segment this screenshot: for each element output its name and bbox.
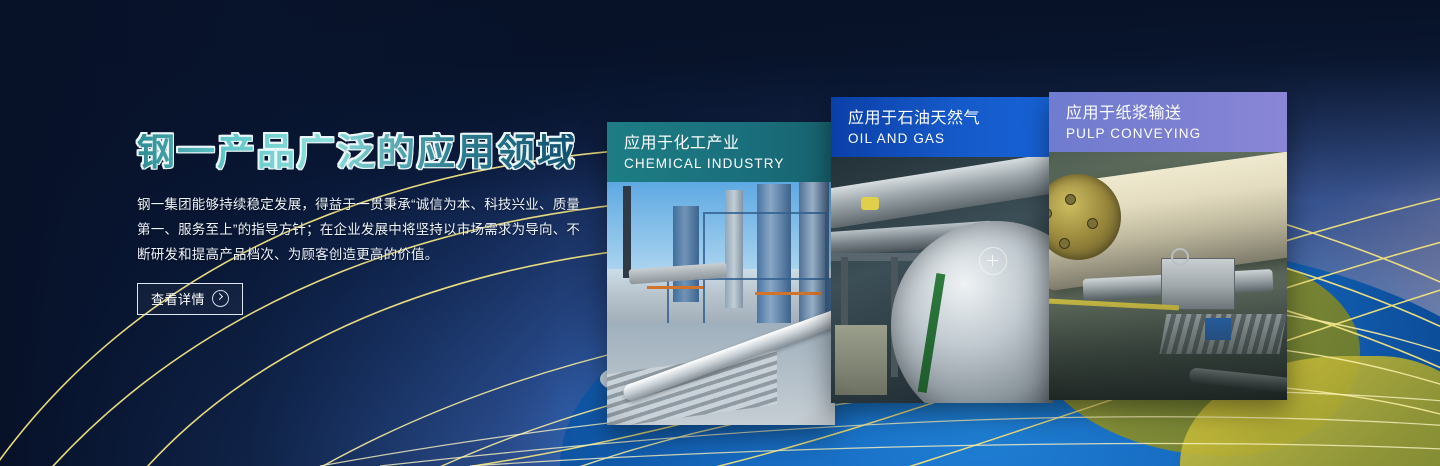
card-header: 应用于石油天然气 OIL AND GAS: [831, 97, 1053, 157]
view-details-button[interactable]: 查看详情: [137, 283, 243, 315]
card-title-en: OIL AND GAS: [848, 130, 1053, 148]
card-title-en: PULP CONVEYING: [1066, 125, 1287, 143]
card-title-cn: 应用于纸浆输送: [1066, 103, 1287, 125]
view-details-label: 查看详情: [151, 289, 205, 308]
application-card-pulp-conveying[interactable]: 应用于纸浆输送 PULP CONVEYING: [1049, 92, 1287, 400]
hero-banner: 钢一产品广泛的应用领域 钢一集团能够持续稳定发展，得益于一贯秉承“诚信为本、科技…: [0, 0, 1440, 466]
card-header: 应用于纸浆输送 PULP CONVEYING: [1049, 92, 1287, 152]
photo-vignette: [1049, 152, 1287, 400]
page-title: 钢一产品广泛的应用领域: [137, 134, 587, 172]
card-title-cn: 应用于石油天然气: [848, 108, 1053, 130]
hero-paragraph: 钢一集团能够持续稳定发展，得益于一贯秉承“诚信为本、科技兴业、质量第一、服务至上…: [137, 192, 581, 267]
hero-copy-block: 钢一产品广泛的应用领域 钢一集团能够持续稳定发展，得益于一贯秉承“诚信为本、科技…: [137, 134, 587, 315]
chemical-plant-photo: [607, 182, 835, 425]
photo-vignette: [831, 157, 1053, 403]
card-header: 应用于化工产业 CHEMICAL INDUSTRY: [607, 122, 835, 182]
pulp-roller-photo: [1049, 152, 1287, 400]
oil-and-gas-plant-photo: [831, 157, 1053, 403]
photo-vignette: [607, 182, 835, 425]
application-card-oil-and-gas[interactable]: 应用于石油天然气 OIL AND GAS: [831, 97, 1053, 403]
application-card-chemical-industry[interactable]: 应用于化工产业 CHEMICAL INDUSTRY: [607, 122, 835, 425]
card-title-cn: 应用于化工产业: [624, 133, 835, 155]
chevron-right-circle-icon: [212, 290, 229, 307]
card-title-en: CHEMICAL INDUSTRY: [624, 155, 835, 173]
